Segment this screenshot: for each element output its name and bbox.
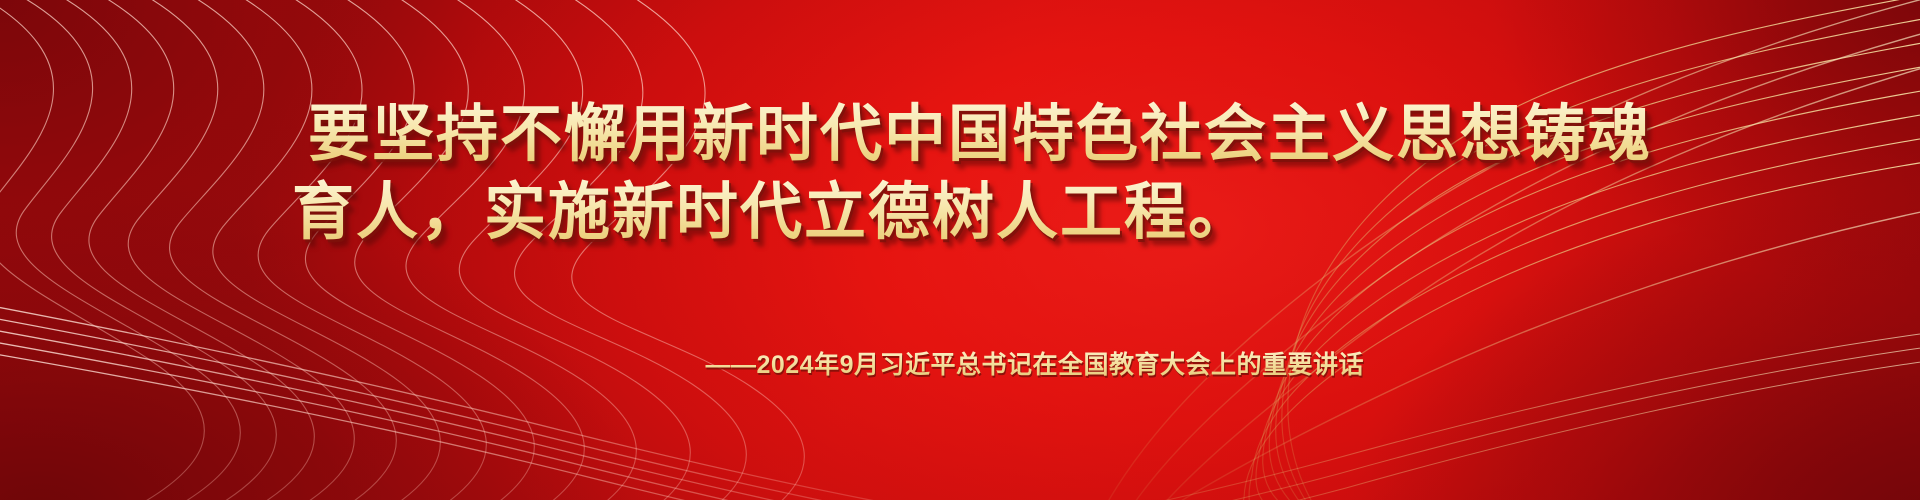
promotional-banner: 要坚持不懈用新时代中国特色社会主义思想铸魂 育人，实施新时代立德树人工程。 ——…: [0, 0, 1920, 500]
attribution-text: ——2024年9月习近平总书记在全国教育大会上的重要讲话: [705, 348, 1364, 382]
headline-line-2-wrapper: 育人，实施新时代立德树人工程。: [120, 174, 1800, 252]
attribution-block: ——2024年9月习近平总书记在全国教育大会上的重要讲话: [0, 348, 1920, 382]
headline-block: 要坚持不懈用新时代中国特色社会主义思想铸魂 育人，实施新时代立德树人工程。: [0, 96, 1920, 252]
headline-line-1: 要坚持不懈用新时代中国特色社会主义思想铸魂: [120, 96, 1800, 174]
banner-content: 要坚持不懈用新时代中国特色社会主义思想铸魂 育人，实施新时代立德树人工程。 ——…: [0, 0, 1920, 500]
headline-line-2: 育人，实施新时代立德树人工程。: [270, 174, 1800, 252]
